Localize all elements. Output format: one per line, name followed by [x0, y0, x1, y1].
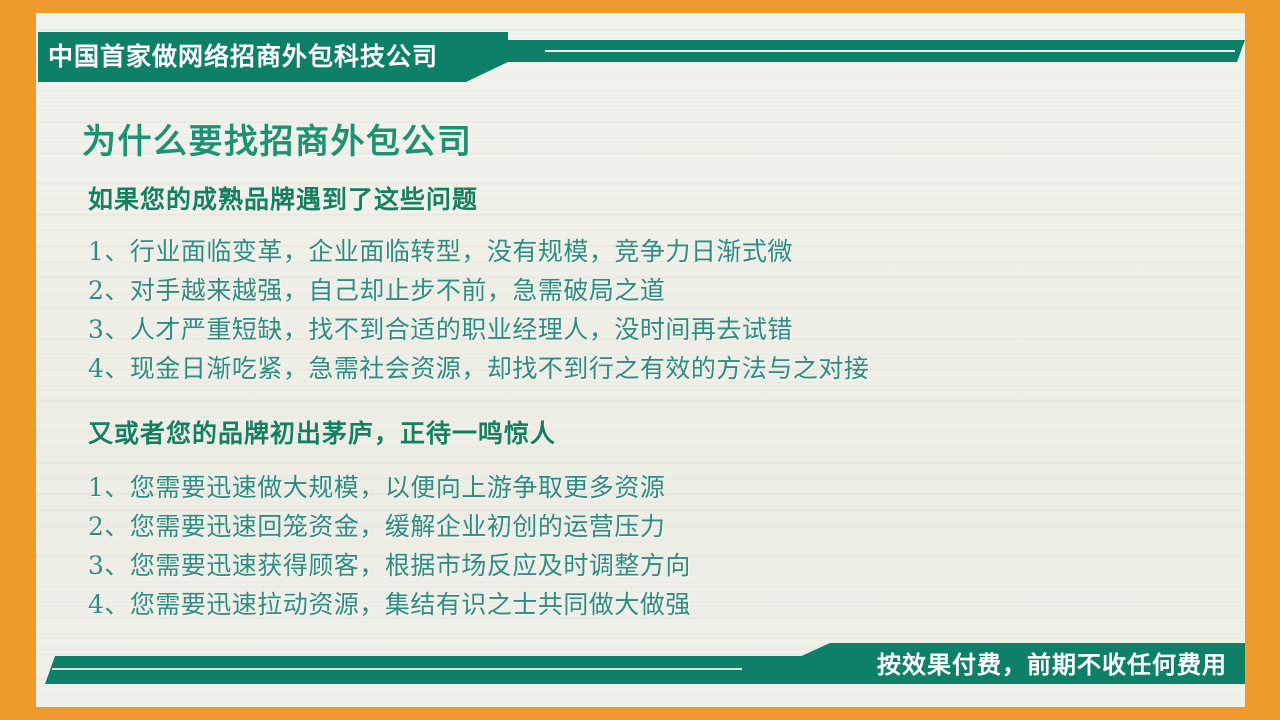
section-heading: 如果您的成熟品牌遇到了这些问题 [88, 184, 869, 216]
list-item: 1、您需要迅速做大规模，以便向上游争取更多资源 [88, 468, 691, 507]
section-heading: 又或者您的品牌初出茅庐，正待一鸣惊人 [88, 418, 691, 450]
footer-tagline: 按效果付费，前期不收任何费用 [877, 652, 1227, 680]
list-item: 4、您需要迅速拉动资源，集结有识之士共同做大做强 [88, 585, 691, 624]
footer-band: 按效果付费，前期不收任何费用 [38, 643, 1245, 685]
slide-root: 中国首家做网络招商外包科技公司 为什么要找招商外包公司 如果您的成熟品牌遇到了这… [0, 0, 1280, 720]
need-list: 1、您需要迅速做大规模，以便向上游争取更多资源 2、您需要迅速回笼资金，缓解企业… [88, 468, 691, 624]
footer-thin-bar-rule [52, 668, 742, 670]
problem-list: 1、行业面临变革，企业面临转型，没有规模，竞争力日渐式微 2、对手越来越强，自己… [88, 232, 869, 388]
list-item: 4、现金日渐吃紧，急需社会资源，却找不到行之有效的方法与之对接 [88, 349, 869, 388]
footer-thick-bar: 按效果付费，前期不收任何费用 [738, 643, 1245, 684]
header-thin-bar-rule [545, 50, 1235, 52]
list-item: 3、您需要迅速获得顾客，根据市场反应及时调整方向 [88, 546, 691, 585]
header-title: 中国首家做网络招商外包科技公司 [48, 40, 438, 74]
section-mature-brand: 如果您的成熟品牌遇到了这些问题 1、行业面临变革，企业面临转型，没有规模，竞争力… [88, 184, 869, 388]
page-title: 为什么要找招商外包公司 [82, 120, 473, 164]
section-new-brand: 又或者您的品牌初出茅庐，正待一鸣惊人 1、您需要迅速做大规模，以便向上游争取更多… [88, 418, 691, 624]
list-item: 3、人才严重短缺，找不到合适的职业经理人，没时间再去试错 [88, 310, 869, 349]
footer-thin-bar [45, 656, 835, 684]
list-item: 2、您需要迅速回笼资金，缓解企业初创的运营压力 [88, 507, 691, 546]
list-item: 1、行业面临变革，企业面临转型，没有规模，竞争力日渐式微 [88, 232, 869, 271]
list-item: 2、对手越来越强，自己却止步不前，急需破局之道 [88, 271, 869, 310]
